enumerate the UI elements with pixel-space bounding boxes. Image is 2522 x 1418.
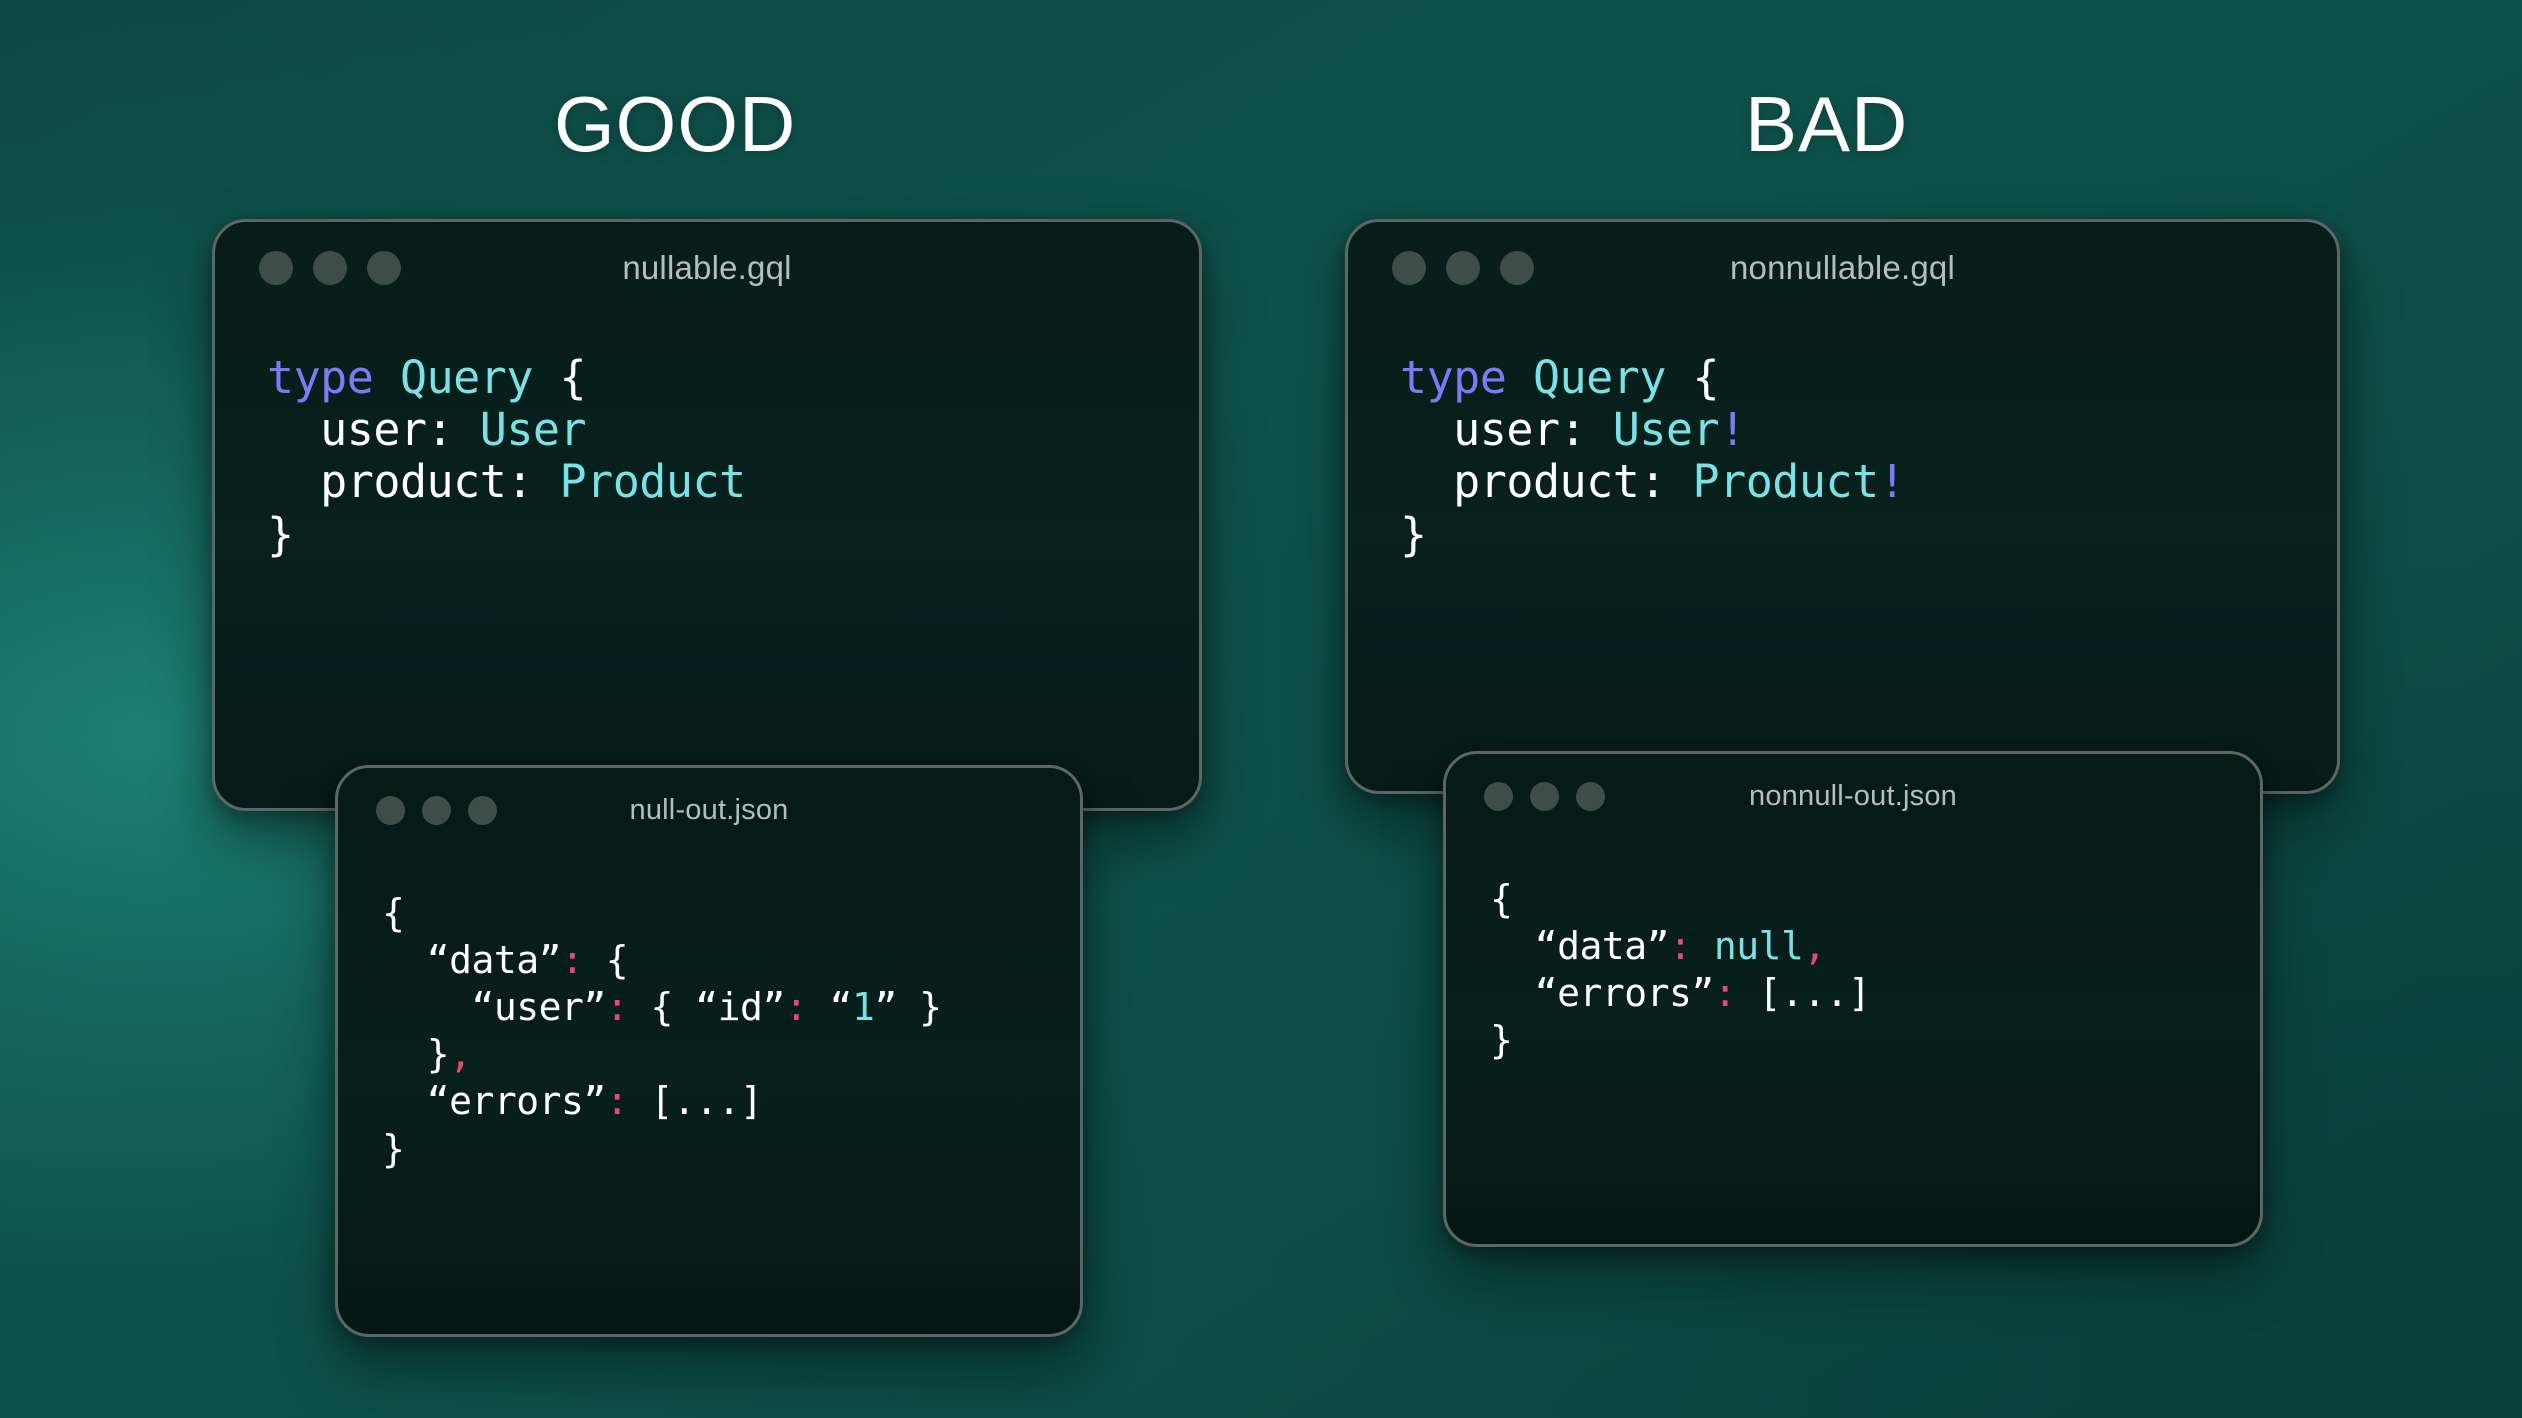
code-token: : bbox=[606, 985, 628, 1029]
code-token: } bbox=[382, 1032, 449, 1076]
code-token: ! bbox=[1879, 455, 1906, 508]
code-token: null bbox=[1714, 924, 1804, 968]
traffic-dot-yellow-icon[interactable] bbox=[1446, 251, 1480, 285]
code-token: User bbox=[1613, 403, 1719, 456]
code-token: { bbox=[533, 351, 586, 404]
code-token: } bbox=[1400, 508, 1427, 561]
traffic-dot-red-icon[interactable] bbox=[259, 251, 293, 285]
code-token: product: bbox=[1400, 455, 1693, 508]
code-token: Product bbox=[1693, 455, 1879, 508]
code-content: { “data”: null, “errors”: [...] } bbox=[1446, 838, 2260, 1064]
traffic-dot-green-icon[interactable] bbox=[1500, 251, 1534, 285]
code-token: “data” bbox=[382, 938, 561, 982]
code-window-nonnull-out-json[interactable]: nonnull-out.json { “data”: null, “errors… bbox=[1443, 751, 2263, 1247]
code-token: Query bbox=[1533, 351, 1666, 404]
code-token: ! bbox=[1719, 403, 1746, 456]
code-token: product: bbox=[267, 455, 560, 508]
code-token: “errors” bbox=[1490, 971, 1714, 1015]
code-token: “user” bbox=[382, 985, 606, 1029]
code-token: 1 bbox=[852, 985, 874, 1029]
window-titlebar: nonnullable.gql bbox=[1348, 222, 2337, 314]
code-token: “data” bbox=[1490, 924, 1669, 968]
code-token: [...] bbox=[628, 1079, 762, 1123]
traffic-lights bbox=[1484, 782, 1605, 811]
code-content: type Query { user: User! product: Produc… bbox=[1348, 314, 2337, 561]
window-titlebar: nonnull-out.json bbox=[1446, 754, 2260, 838]
code-token: { bbox=[382, 891, 404, 935]
traffic-lights bbox=[376, 796, 497, 825]
code-token: , bbox=[1803, 924, 1825, 968]
traffic-lights bbox=[259, 251, 401, 285]
code-window-null-out-json[interactable]: null-out.json { “data”: { “user”: { “id”… bbox=[335, 765, 1083, 1337]
traffic-dot-green-icon[interactable] bbox=[367, 251, 401, 285]
code-token: : bbox=[606, 1079, 628, 1123]
traffic-dot-red-icon[interactable] bbox=[1392, 251, 1426, 285]
code-token: user: bbox=[1400, 403, 1613, 456]
code-content: type Query { user: User product: Product… bbox=[215, 314, 1199, 561]
traffic-dot-yellow-icon[interactable] bbox=[1530, 782, 1559, 811]
traffic-dot-green-icon[interactable] bbox=[468, 796, 497, 825]
traffic-lights bbox=[1392, 251, 1534, 285]
code-token: : bbox=[1669, 924, 1691, 968]
code-token: , bbox=[449, 1032, 471, 1076]
code-window-nullable-gql[interactable]: nullable.gql type Query { user: User pro… bbox=[212, 219, 1202, 811]
code-token: type bbox=[267, 351, 373, 404]
code-window-nonnullable-gql[interactable]: nonnullable.gql type Query { user: User!… bbox=[1345, 219, 2340, 794]
window-titlebar: null-out.json bbox=[338, 768, 1080, 852]
code-token: “errors” bbox=[382, 1079, 606, 1123]
code-token: [...] bbox=[1736, 971, 1870, 1015]
traffic-dot-red-icon[interactable] bbox=[1484, 782, 1513, 811]
code-content: { “data”: { “user”: { “id”: “1” } }, “er… bbox=[338, 852, 1080, 1173]
code-token bbox=[373, 351, 400, 404]
code-token bbox=[1506, 351, 1533, 404]
code-token: “ bbox=[807, 985, 852, 1029]
traffic-dot-red-icon[interactable] bbox=[376, 796, 405, 825]
column-heading-bad: BAD bbox=[1745, 85, 1908, 163]
code-token: User bbox=[480, 403, 586, 456]
code-token: { bbox=[1490, 877, 1512, 921]
code-token: ” } bbox=[874, 985, 941, 1029]
code-token: { bbox=[1666, 351, 1719, 404]
column-heading-good: GOOD bbox=[554, 85, 796, 163]
traffic-dot-yellow-icon[interactable] bbox=[313, 251, 347, 285]
code-token: : bbox=[785, 985, 807, 1029]
code-token bbox=[1691, 924, 1713, 968]
code-token: : bbox=[1714, 971, 1736, 1015]
code-token: } bbox=[1490, 1018, 1512, 1062]
code-token: : bbox=[561, 938, 583, 982]
code-token: Product bbox=[560, 455, 746, 508]
code-token: Query bbox=[400, 351, 533, 404]
window-titlebar: nullable.gql bbox=[215, 222, 1199, 314]
code-token: { bbox=[583, 938, 628, 982]
code-token: type bbox=[1400, 351, 1506, 404]
code-token: { “id” bbox=[628, 985, 785, 1029]
traffic-dot-yellow-icon[interactable] bbox=[422, 796, 451, 825]
code-token: } bbox=[267, 508, 294, 561]
code-token: } bbox=[382, 1127, 404, 1171]
traffic-dot-green-icon[interactable] bbox=[1576, 782, 1605, 811]
code-token: user: bbox=[267, 403, 480, 456]
